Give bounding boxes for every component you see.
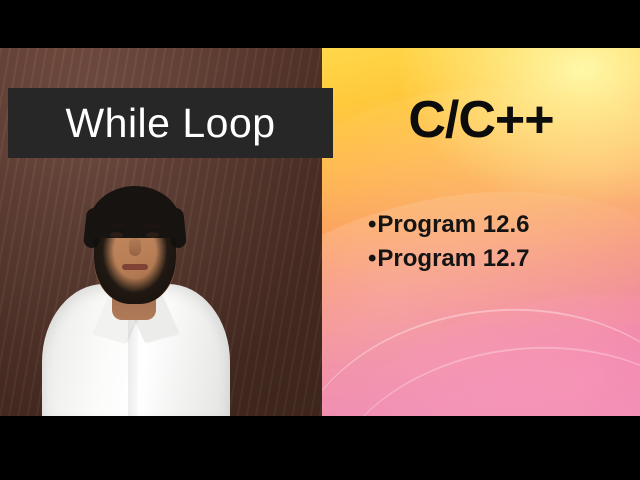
background-wave-mid [322,147,640,416]
bullet-dot-icon: • [368,213,376,237]
title-card-label: While Loop [65,103,275,144]
right-panel: C/C++ • Program 12.6 • Program 12.7 [322,48,640,416]
program-list: • Program 12.6 • Program 12.7 [368,208,529,276]
background-wave-line-1 [322,288,640,416]
background-wave-bottom [340,270,640,416]
presenter-eye-right [146,232,159,238]
presenter-eye-left [110,232,123,238]
presenter-nose [129,238,141,256]
list-item: • Program 12.7 [368,242,529,276]
list-item-label: Program 12.6 [377,208,529,242]
list-item: • Program 12.6 [368,208,529,242]
background-wave-line-2 [322,326,640,416]
presenter-hair [88,186,182,238]
language-heading: C/C++ [322,94,640,146]
presenter-person [36,171,236,416]
list-item-label: Program 12.7 [377,242,529,276]
presenter-mouth [122,264,148,270]
title-card: While Loop [8,88,333,158]
video-frame: While Loop C/C++ • Program 12.6 • Progra… [0,0,640,480]
presenter-shirt-placket [128,320,138,416]
bullet-dot-icon: • [368,247,376,271]
slide-content: While Loop C/C++ • Program 12.6 • Progra… [0,48,640,416]
